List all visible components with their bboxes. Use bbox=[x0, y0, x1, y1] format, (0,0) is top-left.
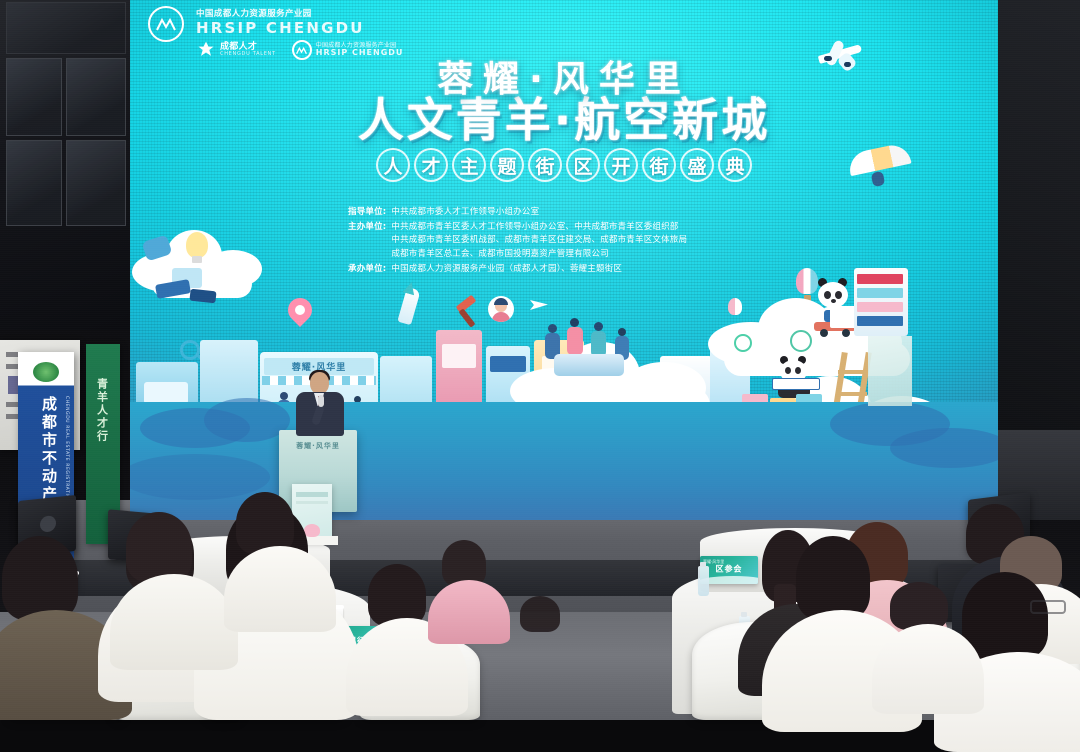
crown-badge-icon bbox=[790, 330, 812, 352]
kiosk-sign-blue bbox=[490, 356, 526, 372]
shield-badge-icon bbox=[734, 334, 752, 352]
organizer-row-guidance: 指导单位: 中共成都市委人才工作领导小组办公室 bbox=[348, 206, 878, 219]
paper-plane-icon bbox=[530, 300, 548, 310]
organizer-credits: 指导单位: 中共成都市委人才工作领导小组办公室 主办单位: 中共成都市青羊区委人… bbox=[348, 206, 878, 278]
title-sub-char: 题 bbox=[490, 148, 524, 182]
audience-hair bbox=[368, 564, 426, 626]
organizer-line: 中共成都市青羊区委机战部、成都市青羊区住建交局、成都市青羊区文体旅局 bbox=[391, 234, 687, 247]
hrsip-name-en: HRSIP CHENGDU bbox=[196, 21, 403, 36]
cloud-person-head-4 bbox=[618, 328, 626, 336]
lightbulb-base bbox=[192, 256, 202, 263]
organizer-label: 主办单位: bbox=[348, 221, 386, 234]
organizer-label: 承办单位: bbox=[348, 263, 386, 276]
cloud-person-body-2 bbox=[567, 327, 583, 355]
audience-hair bbox=[236, 492, 294, 554]
audience-hair bbox=[2, 536, 78, 620]
audience-hair bbox=[520, 596, 560, 632]
title-sub-char: 人 bbox=[376, 148, 410, 182]
left-glass-wall bbox=[0, 0, 132, 330]
event-title-sub: 人 才 主 题 街 区 开 街 盛 典 bbox=[130, 148, 998, 182]
audience-hair bbox=[796, 536, 870, 620]
decor-flower bbox=[304, 524, 320, 537]
bookshelf-illustration bbox=[854, 268, 908, 336]
organizer-label: 指导单位: bbox=[348, 206, 386, 219]
title-sub-char: 街 bbox=[642, 148, 676, 182]
cloud-person-head-2 bbox=[570, 318, 579, 327]
organizer-row-host: 主办单位: 中共成都市青羊区委人才工作领导小组办公室、中共成都市青羊区委组织部 … bbox=[348, 221, 878, 261]
title-sub-char: 主 bbox=[452, 148, 486, 182]
gavel-handle bbox=[458, 308, 475, 327]
green-banner-text: 青羊人才行 bbox=[97, 378, 110, 443]
book2-illustration bbox=[189, 289, 216, 304]
open-book-illustration bbox=[772, 378, 820, 390]
microphone-icon bbox=[318, 395, 324, 407]
cloud-person-head-3 bbox=[594, 322, 603, 331]
avatar-illustration bbox=[488, 296, 514, 322]
building-left-window bbox=[144, 382, 188, 404]
right-wall-panel bbox=[998, 0, 1080, 500]
water-bottle-1 bbox=[698, 566, 709, 596]
hrsip-emblem-icon bbox=[148, 6, 184, 42]
title-sub-char: 盛 bbox=[680, 148, 714, 182]
audience-hair bbox=[442, 540, 486, 586]
organizer-line: 中共成都市委人才工作领导小组办公室 bbox=[391, 206, 539, 219]
ladder-step-2 bbox=[841, 392, 867, 396]
eyeglasses-icon bbox=[1030, 600, 1066, 614]
hrsip-name-cn: 中国成都人力资源服务产业园 bbox=[196, 7, 403, 19]
map-pin-icon bbox=[283, 293, 317, 327]
cloud-person-head-1 bbox=[548, 324, 557, 333]
speaker-head bbox=[310, 372, 329, 394]
podium-label: 蓉耀·风华里 bbox=[287, 440, 349, 452]
title-sub-char: 才 bbox=[414, 148, 448, 182]
led-stage-screen: 蓉耀·风华里 bbox=[130, 0, 998, 520]
stage-display-board-right bbox=[868, 336, 912, 406]
audience-hair bbox=[126, 512, 192, 582]
organizer-row-undertaker: 承办单位: 中国成都人力资源服务产业园（成都人才园）、蓉耀主题街区 bbox=[348, 263, 878, 276]
lightbulb-icon bbox=[186, 232, 208, 258]
official-seal-icon bbox=[33, 362, 59, 382]
kiosk-center-pink-window bbox=[442, 344, 476, 368]
title-sub-char: 区 bbox=[566, 148, 600, 182]
audience-hair bbox=[890, 582, 948, 630]
bottom-banner-text: 蓉耀·风华里 bbox=[130, 50, 998, 102]
title-sub-char: 典 bbox=[718, 148, 752, 182]
title-sub-char: 街 bbox=[528, 148, 562, 182]
cloud-counter bbox=[554, 354, 624, 376]
ladder-step-1 bbox=[838, 370, 864, 374]
title-sub-char: 开 bbox=[604, 148, 638, 182]
audience-hair bbox=[962, 572, 1048, 660]
organizer-line: 中国成都人力资源服务产业园（成都人才园）、蓉耀主题街区 bbox=[391, 263, 622, 276]
event-photo-scene: 蓉耀·风华里 bbox=[0, 0, 1080, 720]
organizer-line: 中共成都市青羊区委人才工作领导小组办公室、中共成都市青羊区委组织部 bbox=[391, 221, 687, 234]
organizer-line: 成都市青羊区总工会、成都市国投明嘉资产管理有限公司 bbox=[391, 248, 687, 261]
